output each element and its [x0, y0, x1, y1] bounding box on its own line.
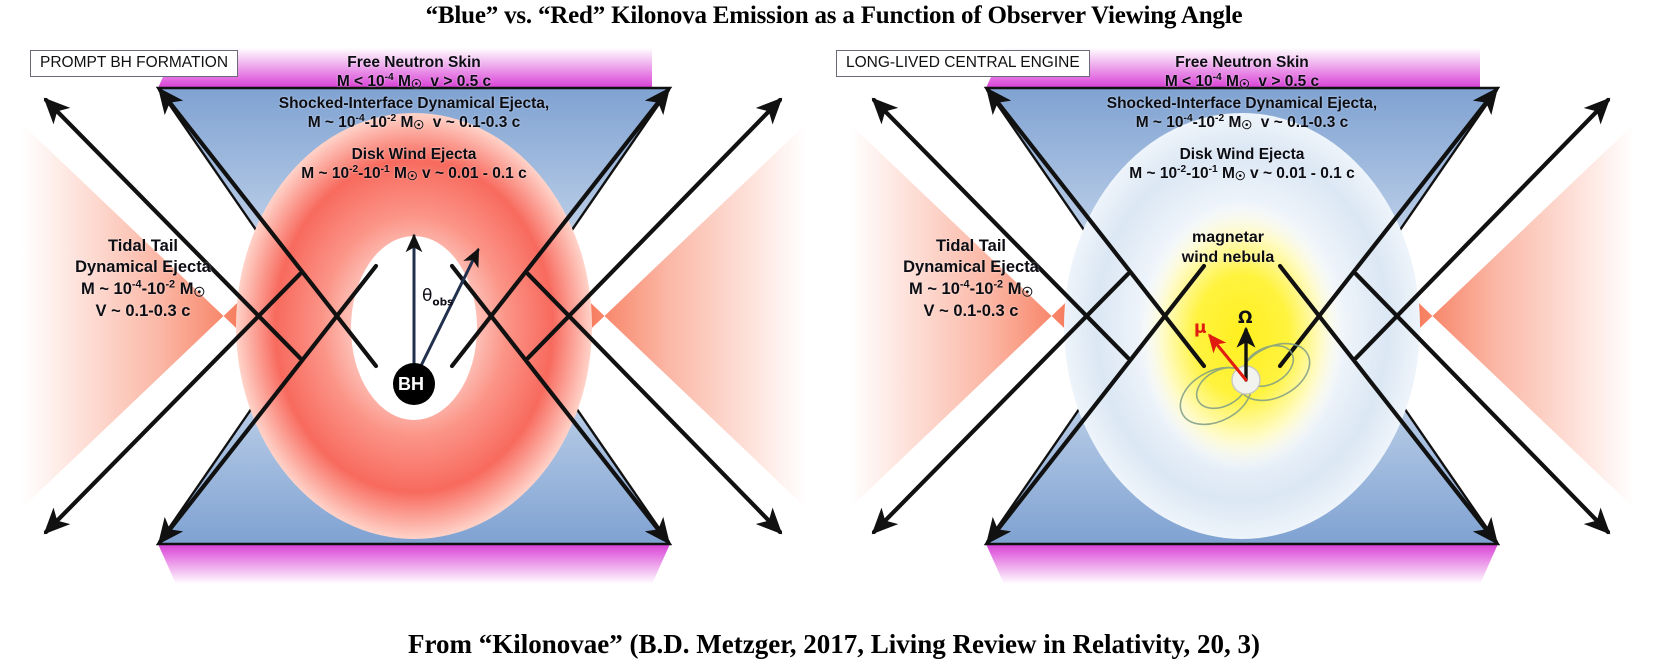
tidal-tail-line1: Tidal Tail: [846, 236, 1096, 257]
shocked-interface-values: M ~ 10-4-10-2 M☉ v ~ 0.1-0.3 c: [8, 114, 820, 133]
black-hole-label: BH: [398, 374, 424, 395]
annotation-shocked-interface: Shocked-Interface Dynamical Ejecta, M ~ …: [8, 95, 820, 132]
free-neutron-skin-band-bottom: [158, 544, 670, 584]
annotation-magnetar-wind-nebula: magnetar wind nebula: [1098, 228, 1358, 267]
annotation-disk-wind-ejecta: Disk Wind Ejecta M ~ 10-2-10-1 M☉ v ~ 0.…: [8, 146, 820, 183]
panel-long-lived-central-engine: LONG-LIVED CENTRAL ENGINE Free Neutron S…: [836, 36, 1648, 596]
spin-label: Ω: [1238, 308, 1252, 328]
tidal-tail-mass: M ~ 10-4-10-2 M☉: [18, 279, 268, 301]
scenario-label-long-lived-central-engine: LONG-LIVED CENTRAL ENGINE: [836, 50, 1090, 77]
tidal-tail-line1: Tidal Tail: [18, 236, 268, 257]
shocked-interface-values: M ~ 10-4-10-2 M☉ v ~ 0.1-0.3 c: [836, 114, 1648, 133]
tidal-tail-mass: M ~ 10-4-10-2 M☉: [846, 279, 1096, 301]
shocked-interface-title: Shocked-Interface Dynamical Ejecta,: [836, 95, 1648, 114]
page-title: “Blue” vs. “Red” Kilonova Emission as a …: [0, 2, 1668, 30]
annotation-disk-wind-ejecta: Disk Wind Ejecta M ~ 10-2-10-1 M☉ v ~ 0.…: [836, 146, 1648, 183]
disk-wind-values: M ~ 10-2-10-1 M☉ v ~ 0.01 - 0.1 c: [836, 165, 1648, 184]
shocked-interface-title: Shocked-Interface Dynamical Ejecta,: [8, 95, 820, 114]
tidal-tail-velocity: V ~ 0.1-0.3 c: [18, 301, 268, 322]
tidal-tail-line2: Dynamical Ejecta: [18, 257, 268, 278]
tidal-tail-line2: Dynamical Ejecta: [846, 257, 1096, 278]
magnetic-moment-label: μ: [1194, 318, 1207, 338]
scenario-label-prompt-bh-formation: PROMPT BH FORMATION: [30, 50, 238, 77]
panel-prompt-bh-formation: PROMPT BH FORMATION Free Neutron Skin M …: [8, 36, 820, 596]
tidal-tail-velocity: V ~ 0.1-0.3 c: [846, 301, 1096, 322]
magnetar-line2: wind nebula: [1098, 248, 1358, 268]
viewing-angle-label: θobs: [422, 286, 453, 308]
annotation-tidal-tail: Tidal Tail Dynamical Ejecta M ~ 10-4-10-…: [18, 236, 268, 322]
figure-caption: From “Kilonovae” (B.D. Metzger, 2017, Li…: [0, 629, 1668, 660]
disk-wind-title: Disk Wind Ejecta: [8, 146, 820, 165]
disk-wind-values: M ~ 10-2-10-1 M☉ v ~ 0.01 - 0.1 c: [8, 165, 820, 184]
annotation-shocked-interface: Shocked-Interface Dynamical Ejecta, M ~ …: [836, 95, 1648, 132]
free-neutron-skin-band-bottom: [986, 544, 1498, 584]
magnetar-line1: magnetar: [1098, 228, 1358, 248]
annotation-tidal-tail: Tidal Tail Dynamical Ejecta M ~ 10-4-10-…: [846, 236, 1096, 322]
disk-wind-title: Disk Wind Ejecta: [836, 146, 1648, 165]
